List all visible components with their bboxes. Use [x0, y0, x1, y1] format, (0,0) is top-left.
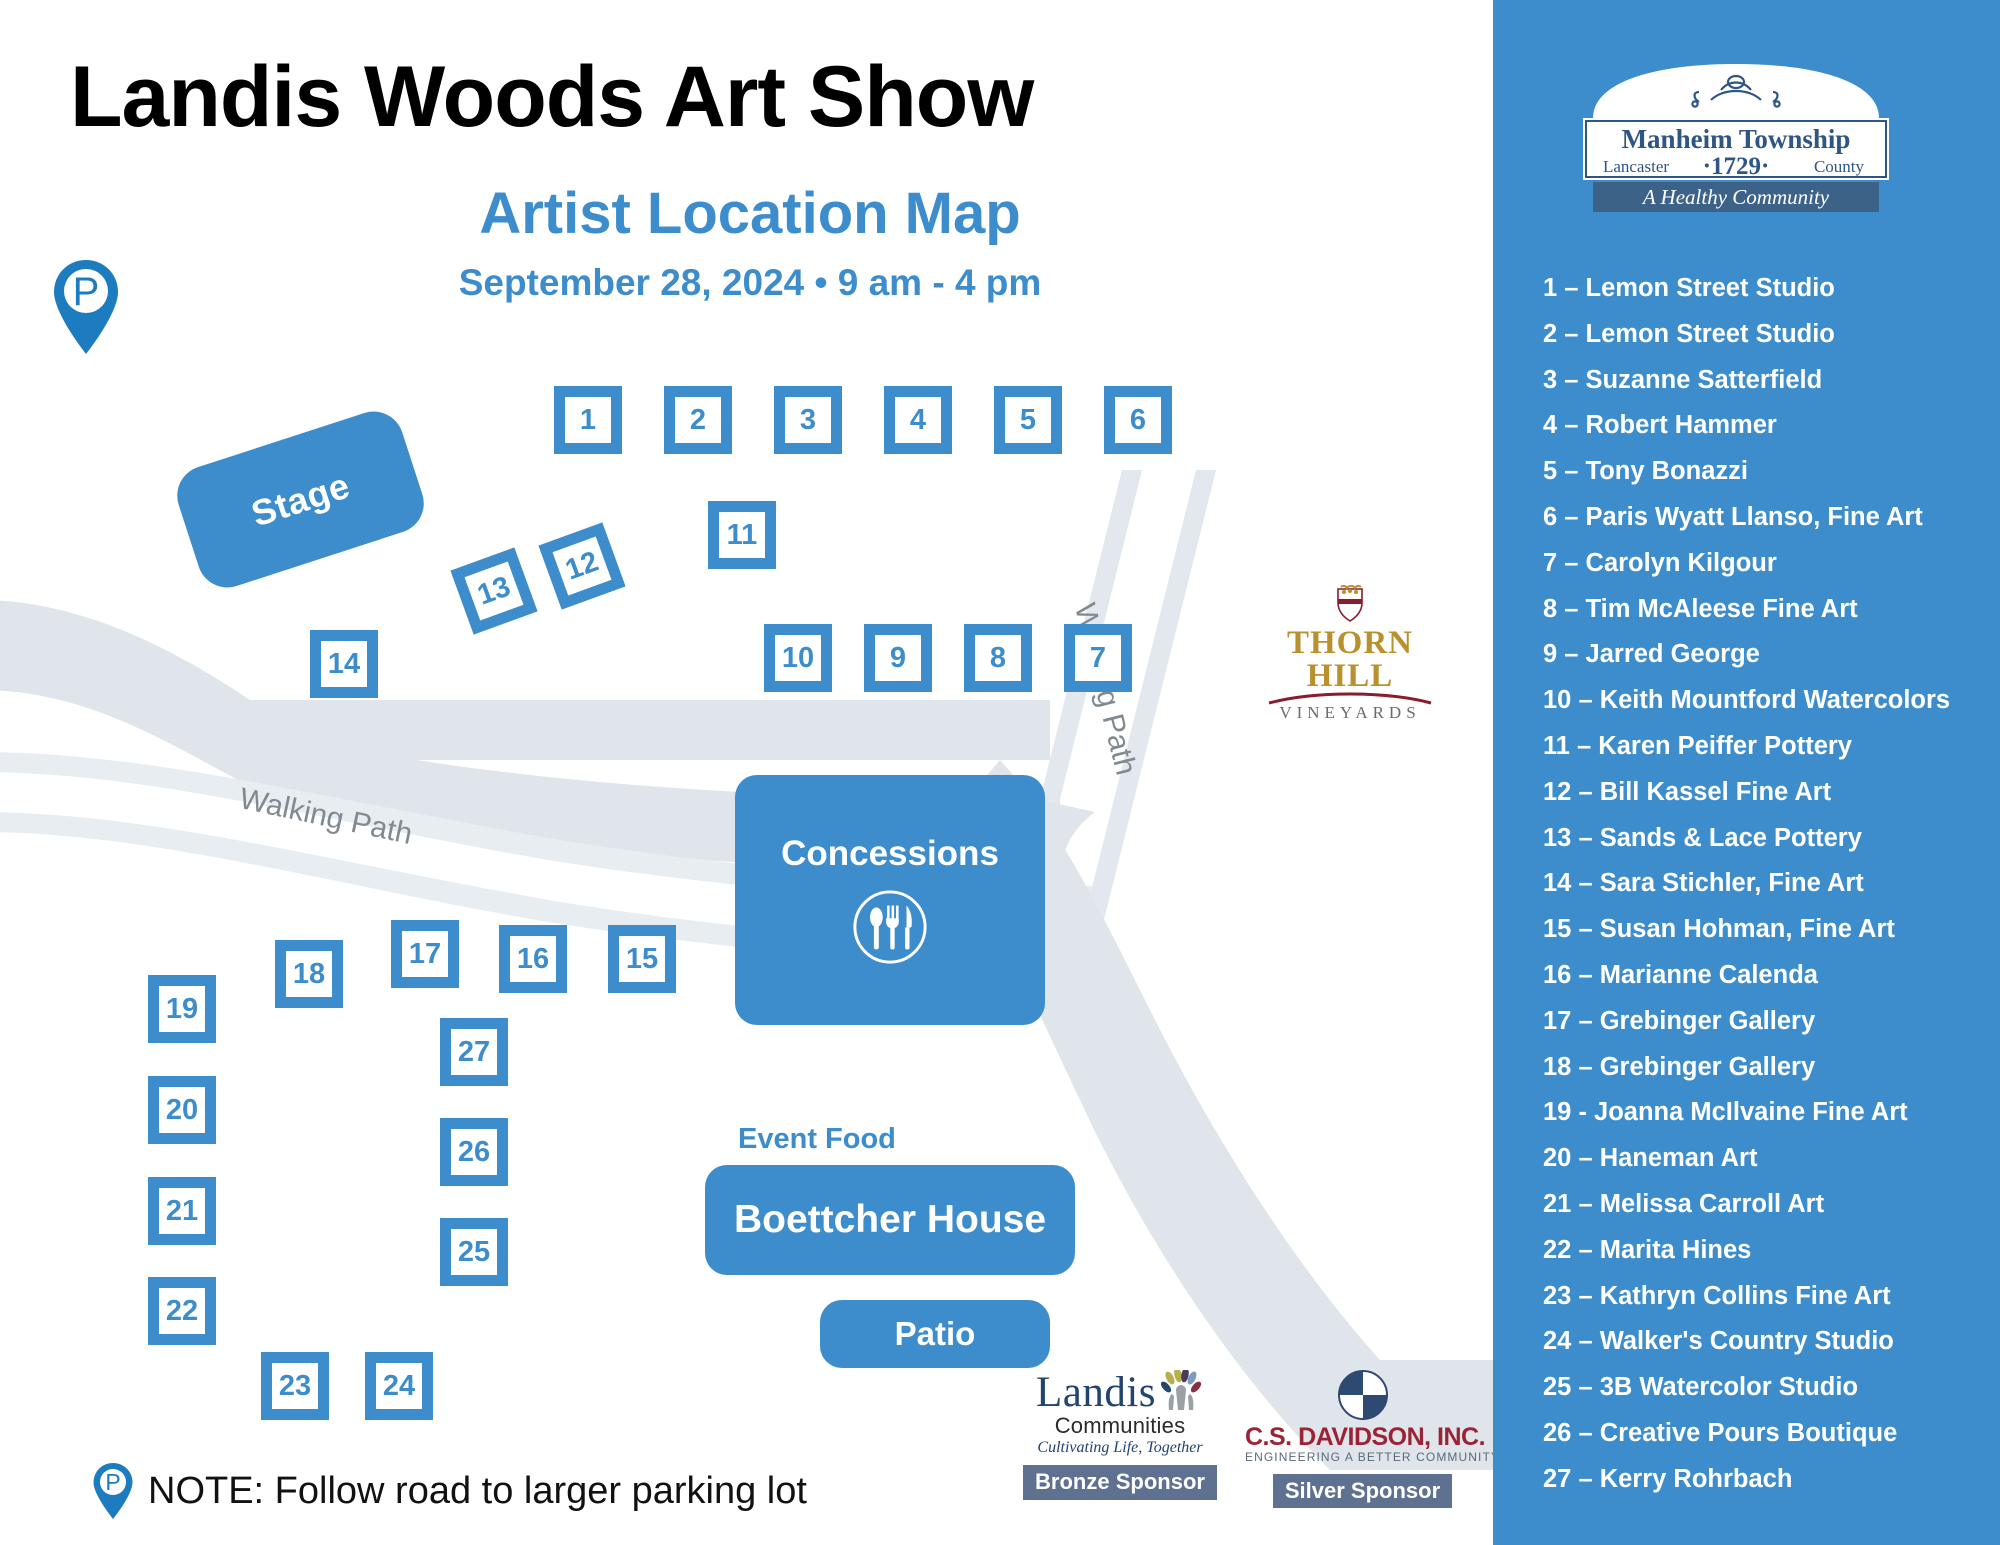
- landis-wordmark: Landis: [1036, 1373, 1156, 1414]
- artist-list-item: 23 – Kathryn Collins Fine Art: [1543, 1284, 1993, 1310]
- artist-list-item: 11 – Karen Peiffer Pottery: [1543, 734, 1993, 760]
- artist-list-item: 2 – Lemon Street Studio: [1543, 322, 1993, 348]
- concessions-label: Concessions: [781, 834, 999, 874]
- booth-number: 22: [166, 1297, 198, 1326]
- artist-list-item: 13 – Sands & Lace Pottery: [1543, 826, 1993, 852]
- booth-number: 1: [580, 406, 596, 435]
- landis-sponsor-tier: Bronze Sponsor: [1023, 1465, 1217, 1499]
- cutlery-icon: [851, 888, 929, 966]
- manheim-township-logo: Manheim Township Lancaster ·1729· County…: [1571, 60, 1901, 215]
- sponsor-cs-davidson: C.S. DAVIDSON, INC. ENGINEERING A BETTER…: [1245, 1370, 1480, 1508]
- township-name: Manheim Township: [1622, 124, 1851, 154]
- booth-15[interactable]: 15: [608, 925, 676, 993]
- cs-davidson-sponsor-tier: Silver Sponsor: [1273, 1474, 1452, 1508]
- booth-number: 13: [474, 572, 514, 610]
- artist-list-item: 9 – Jarred George: [1543, 642, 1993, 668]
- boettcher-house-area[interactable]: Boettcher House: [705, 1165, 1075, 1275]
- booth-6[interactable]: 6: [1104, 386, 1172, 454]
- cs-davidson-quadrant-icon: [1338, 1370, 1388, 1420]
- artist-list-item: 4 – Robert Hammer: [1543, 413, 1993, 439]
- event-date-time: September 28, 2024 • 9 am - 4 pm: [300, 262, 1200, 304]
- booth-7[interactable]: 7: [1064, 624, 1132, 692]
- booth-number: 21: [166, 1197, 198, 1226]
- booth-number: 9: [890, 644, 906, 673]
- artist-location-map-page: Landis Woods Art Show Artist Location Ma…: [0, 0, 2000, 1545]
- stage-label: Stage: [246, 464, 355, 535]
- booth-number: 3: [800, 406, 816, 435]
- event-food-label: Event Food: [738, 1123, 896, 1156]
- artist-list-item: 25 – 3B Watercolor Studio: [1543, 1375, 1993, 1401]
- map-canvas: Landis Woods Art Show Artist Location Ma…: [0, 0, 1493, 1545]
- svg-text:P: P: [73, 270, 100, 314]
- booth-21[interactable]: 21: [148, 1177, 216, 1245]
- artist-list-item: 5 – Tony Bonazzi: [1543, 459, 1993, 485]
- artist-list-item: 7 – Carolyn Kilgour: [1543, 551, 1993, 577]
- parking-pin-icon: P: [50, 258, 122, 356]
- artist-list-item: 14 – Sara Stichler, Fine Art: [1543, 871, 1993, 897]
- artist-list: 1 – Lemon Street Studio2 – Lemon Street …: [1543, 276, 1993, 1513]
- artist-list-item: 20 – Haneman Art: [1543, 1146, 1993, 1172]
- artist-list-item: 10 – Keith Mountford Watercolors: [1543, 688, 1993, 714]
- cs-davidson-name: C.S. DAVIDSON, INC.: [1245, 1425, 1480, 1450]
- booth-number: 19: [166, 995, 198, 1024]
- artist-list-item: 18 – Grebinger Gallery: [1543, 1055, 1993, 1081]
- artist-list-item: 21 – Melissa Carroll Art: [1543, 1192, 1993, 1218]
- booth-number: 16: [517, 945, 549, 974]
- artist-list-item: 16 – Marianne Calenda: [1543, 963, 1993, 989]
- artist-list-item: 26 – Creative Pours Boutique: [1543, 1421, 1993, 1447]
- artist-list-item: 1 – Lemon Street Studio: [1543, 276, 1993, 302]
- parking-pin-note-icon: P: [92, 1462, 134, 1520]
- patio-area[interactable]: Patio: [820, 1300, 1050, 1368]
- artist-list-item: 6 – Paris Wyatt Llanso, Fine Art: [1543, 505, 1993, 531]
- booth-number: 15: [626, 945, 658, 974]
- booth-number: 26: [458, 1138, 490, 1167]
- booth-18[interactable]: 18: [275, 940, 343, 1008]
- sponsor-landis-communities: Landis Communities Cultivating Life,: [1020, 1370, 1220, 1500]
- township-motto: A Healthy Community: [1641, 185, 1830, 209]
- booth-25[interactable]: 25: [440, 1218, 508, 1286]
- booth-26[interactable]: 26: [440, 1118, 508, 1186]
- cs-davidson-tagline: ENGINEERING A BETTER COMMUNITY: [1245, 1450, 1480, 1466]
- artist-list-item: 3 – Suzanne Satterfield: [1543, 368, 1993, 394]
- booth-number: 5: [1020, 406, 1036, 435]
- booth-14[interactable]: 14: [310, 630, 378, 698]
- thornhill-subtitle: VINEYARDS: [1250, 703, 1450, 723]
- artist-list-item: 19 - Joanna McIlvaine Fine Art: [1543, 1100, 1993, 1126]
- booth-20[interactable]: 20: [148, 1076, 216, 1144]
- booth-number: 27: [458, 1038, 490, 1067]
- booth-number: 12: [562, 547, 602, 585]
- booth-number: 18: [293, 960, 325, 989]
- township-year: ·1729·: [1703, 153, 1770, 180]
- booth-2[interactable]: 2: [664, 386, 732, 454]
- artist-list-item: 15 – Susan Hohman, Fine Art: [1543, 917, 1993, 943]
- thornhill-name: THORN HILL: [1250, 627, 1450, 693]
- booth-1[interactable]: 1: [554, 386, 622, 454]
- township-right-word: County: [1814, 157, 1865, 176]
- booth-11[interactable]: 11: [708, 501, 776, 569]
- booth-8[interactable]: 8: [964, 624, 1032, 692]
- booth-19[interactable]: 19: [148, 975, 216, 1043]
- artist-list-item: 17 – Grebinger Gallery: [1543, 1009, 1993, 1035]
- artist-list-item: 22 – Marita Hines: [1543, 1238, 1993, 1264]
- township-left-word: Lancaster: [1603, 157, 1669, 176]
- booth-number: 17: [409, 940, 441, 969]
- booth-22[interactable]: 22: [148, 1277, 216, 1345]
- booth-number: 4: [910, 406, 926, 435]
- landis-communities-word: Communities: [1020, 1414, 1220, 1438]
- booth-17[interactable]: 17: [391, 920, 459, 988]
- booth-10[interactable]: 10: [764, 624, 832, 692]
- booth-27[interactable]: 27: [440, 1018, 508, 1086]
- artist-list-item: 24 – Walker's Country Studio: [1543, 1329, 1993, 1355]
- booth-24[interactable]: 24: [365, 1352, 433, 1420]
- booth-number: 25: [458, 1238, 490, 1267]
- patio-label: Patio: [895, 1315, 976, 1353]
- artist-list-item: 8 – Tim McAleese Fine Art: [1543, 597, 1993, 623]
- booth-5[interactable]: 5: [994, 386, 1062, 454]
- booth-number: 6: [1130, 406, 1146, 435]
- artist-list-item: 12 – Bill Kassel Fine Art: [1543, 780, 1993, 806]
- artist-list-item: 27 – Kerry Rohrbach: [1543, 1467, 1993, 1493]
- booth-number: 11: [727, 521, 758, 550]
- boettcher-house-label: Boettcher House: [734, 1198, 1046, 1242]
- booth-4[interactable]: 4: [884, 386, 952, 454]
- parking-note-text: NOTE: Follow road to larger parking lot: [148, 1470, 807, 1513]
- booth-23[interactable]: 23: [261, 1352, 329, 1420]
- concessions-area[interactable]: Concessions: [735, 775, 1045, 1025]
- booth-number: 20: [166, 1096, 198, 1125]
- artist-legend-sidebar: Manheim Township Lancaster ·1729· County…: [1493, 0, 2000, 1545]
- booth-number: 8: [990, 644, 1006, 673]
- booth-number: 24: [383, 1372, 415, 1401]
- landis-tree-icon: [1158, 1370, 1204, 1414]
- booth-3[interactable]: 3: [774, 386, 842, 454]
- page-title: Landis Woods Art Show: [70, 52, 1410, 142]
- booth-number: 14: [328, 650, 360, 679]
- sponsors-row: Landis Communities Cultivating Life,: [1020, 1370, 1480, 1535]
- crest-icon: [1333, 585, 1367, 625]
- booth-16[interactable]: 16: [499, 925, 567, 993]
- booth-number: 2: [690, 406, 706, 435]
- thorn-hill-vineyards-logo: THORN HILL VINEYARDS: [1250, 585, 1450, 695]
- booth-number: 23: [279, 1372, 311, 1401]
- svg-text:P: P: [105, 1469, 120, 1495]
- page-subtitle: Artist Location Map: [300, 180, 1200, 247]
- landis-tagline: Cultivating Life, Together: [1020, 1438, 1220, 1457]
- booth-number: 7: [1090, 644, 1106, 673]
- booth-number: 10: [782, 644, 814, 673]
- booth-9[interactable]: 9: [864, 624, 932, 692]
